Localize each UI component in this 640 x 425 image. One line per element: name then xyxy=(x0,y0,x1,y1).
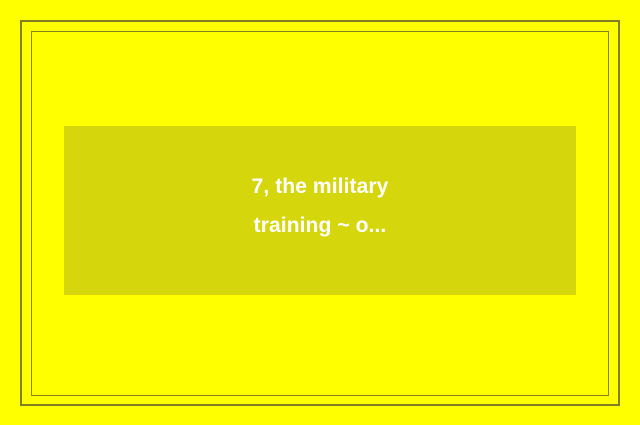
placeholder-caption-text: 7, the military training ~ o... xyxy=(252,168,389,246)
image-placeholder-card: 7, the military training ~ o... xyxy=(64,126,576,295)
image-canvas: 7, the military training ~ o... xyxy=(0,0,640,425)
